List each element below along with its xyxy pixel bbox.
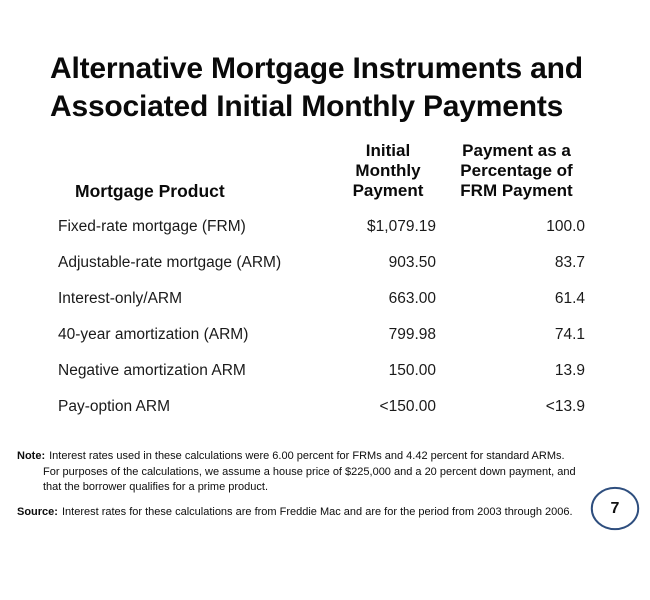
column-header-col2-line-2: Monthly [338,161,438,181]
column-header-col3-line-2: Percentage of [442,161,591,181]
table-row: Negative amortization ARM 150.00 13.9 [52,353,597,389]
cell-percent: 74.1 [442,317,597,353]
cell-payment: <150.00 [338,389,442,425]
table-row: Interest-only/ARM 663.00 61.4 [52,281,597,317]
source-paragraph: Source:Interest rates for these calculat… [17,505,583,521]
table-header: Mortgage Product Initial Monthly Payment… [52,141,597,209]
cell-product: Fixed-rate mortgage (FRM) [52,209,338,245]
mortgage-table: Mortgage Product Initial Monthly Payment… [52,141,597,425]
note-paragraph: Note:Interest rates used in these calcul… [17,449,583,496]
slide-canvas: Alternative Mortgage Instruments and Ass… [0,0,650,600]
note-label: Note: [17,450,45,462]
table-row: Adjustable-rate mortgage (ARM) 903.50 83… [52,245,597,281]
cell-product: Interest-only/ARM [52,281,338,317]
cell-percent: 100.0 [442,209,597,245]
column-header-col2-line-3: Payment [338,181,438,201]
table-body: Fixed-rate mortgage (FRM) $1,079.19 100.… [52,209,597,425]
column-header-payment-percentage-of-frm: Payment as a Percentage of FRM Payment [442,141,597,209]
cell-payment: 903.50 [338,245,442,281]
cell-product: Pay-option ARM [52,389,338,425]
cell-payment: 150.00 [338,353,442,389]
note-text: Interest rates used in these calculation… [43,450,576,493]
cell-percent: 83.7 [442,245,597,281]
source-text: Interest rates for these calculations ar… [62,506,573,518]
table-row: Pay-option ARM <150.00 <13.9 [52,389,597,425]
cell-percent: <13.9 [442,389,597,425]
page-title-line-2: Associated Initial Monthly Payments [50,88,610,126]
source-label: Source: [17,506,58,518]
column-header-initial-monthly-payment: Initial Monthly Payment [338,141,442,209]
cell-payment: 799.98 [338,317,442,353]
table-row: Fixed-rate mortgage (FRM) $1,079.19 100.… [52,209,597,245]
table-row: 40-year amortization (ARM) 799.98 74.1 [52,317,597,353]
column-header-mortgage-product: Mortgage Product [52,141,338,209]
cell-product: Negative amortization ARM [52,353,338,389]
cell-payment: $1,079.19 [338,209,442,245]
cell-percent: 13.9 [442,353,597,389]
cell-percent: 61.4 [442,281,597,317]
page-title-line-1: Alternative Mortgage Instruments and [50,50,610,88]
column-header-col3-line-3: FRM Payment [442,181,591,201]
cell-product: 40-year amortization (ARM) [52,317,338,353]
mortgage-table-container: Mortgage Product Initial Monthly Payment… [52,141,597,425]
cell-payment: 663.00 [338,281,442,317]
column-header-col2-line-1: Initial [338,141,438,161]
page-number-text: 7 [590,486,640,531]
column-header-col3-line-1: Payment as a [442,141,591,161]
table-header-row: Mortgage Product Initial Monthly Payment… [52,141,597,209]
cell-product: Adjustable-rate mortgage (ARM) [52,245,338,281]
footnotes: Note:Interest rates used in these calcul… [17,449,583,529]
page-number-badge: 7 [590,486,640,531]
page-title: Alternative Mortgage Instruments and Ass… [50,50,610,126]
